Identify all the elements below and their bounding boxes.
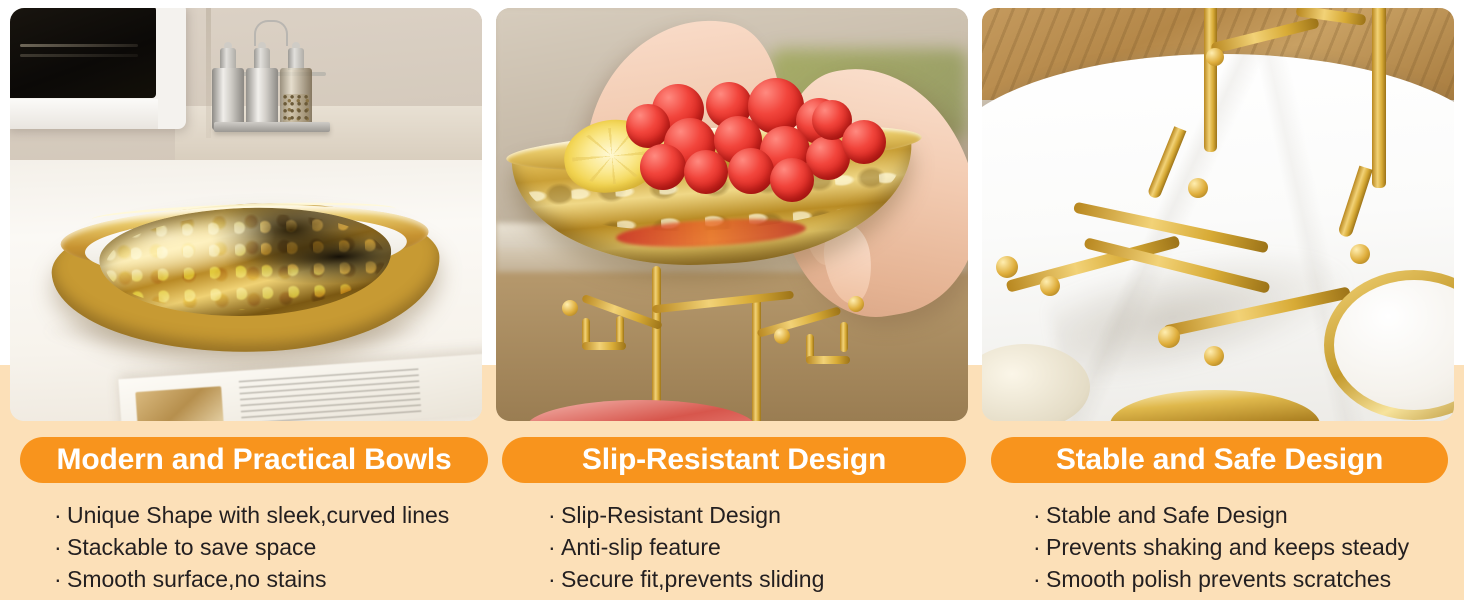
stand-hook xyxy=(806,356,850,364)
list-item-label: Stackable to save space xyxy=(67,534,316,560)
stand-ball-foot xyxy=(1158,326,1180,348)
oven-rack xyxy=(20,54,138,57)
list-item: ·Stackable to save space xyxy=(54,531,488,563)
product-photo-tomato-bowl xyxy=(496,8,968,421)
shaker-rack-tray xyxy=(214,122,330,132)
feature-panel-slip-resistant: Slip-Resistant Design ·Slip-Resistant De… xyxy=(496,8,968,600)
stand-ball-foot xyxy=(562,300,578,316)
tomato xyxy=(640,144,686,190)
stacked-gold-bowls xyxy=(52,176,440,356)
shaker-cap xyxy=(288,48,304,70)
product-photo-stand-base xyxy=(982,8,1454,421)
tomato xyxy=(728,148,774,194)
spice-shaker-set xyxy=(210,20,332,140)
shaker-cap xyxy=(220,48,236,70)
shaker-body xyxy=(280,68,312,130)
list-item: ·Stable and Safe Design xyxy=(1033,499,1448,531)
magazine-photo xyxy=(135,386,224,421)
magazine-text-lines xyxy=(239,368,422,421)
stand-foot-rail xyxy=(1163,286,1351,337)
stand-ball-foot xyxy=(1188,178,1208,198)
feature-heading-pill: Stable and Safe Design xyxy=(991,437,1448,483)
bullet-dot-icon: · xyxy=(548,531,561,563)
tomato xyxy=(684,150,728,194)
cherry-tomatoes xyxy=(556,82,886,190)
list-item: ·Prevents shaking and keeps steady xyxy=(1033,531,1448,563)
feature-bullet-list: ·Unique Shape with sleek,curved lines ·S… xyxy=(20,499,488,595)
product-feature-infographic: Modern and Practical Bowls ·Unique Shape… xyxy=(0,0,1464,600)
bullet-dot-icon: · xyxy=(1033,563,1046,595)
bullet-dot-icon: · xyxy=(54,563,67,595)
bullet-dot-icon: · xyxy=(1033,531,1046,563)
list-item-label: Stable and Safe Design xyxy=(1046,502,1288,528)
stand-post xyxy=(752,296,761,421)
list-item-label: Unique Shape with sleek,curved lines xyxy=(67,502,449,528)
stand-leg xyxy=(1372,8,1386,188)
bullet-dot-icon: · xyxy=(548,563,561,595)
stand-leg xyxy=(1204,8,1217,152)
bullet-dot-icon: · xyxy=(54,499,67,531)
list-item: ·Anti-slip feature xyxy=(548,531,966,563)
list-item-label: Smooth polish prevents scratches xyxy=(1046,566,1391,592)
list-item: ·Slip-Resistant Design xyxy=(548,499,966,531)
stand-arm xyxy=(757,306,842,337)
list-item-label: Secure fit,prevents sliding xyxy=(561,566,824,592)
feature-bullet-list: ·Stable and Safe Design ·Prevents shakin… xyxy=(991,499,1448,595)
stand-crossbar xyxy=(652,291,794,314)
list-item-label: Slip-Resistant Design xyxy=(561,502,781,528)
shaker-body xyxy=(212,68,244,130)
tomato xyxy=(770,158,814,202)
stand-ball-foot xyxy=(996,256,1018,278)
bullet-dot-icon: · xyxy=(548,499,561,531)
stand-ball-foot xyxy=(1040,276,1060,296)
caption-block: Slip-Resistant Design ·Slip-Resistant De… xyxy=(502,437,966,595)
stand-ball-foot xyxy=(1204,346,1224,366)
bullet-dot-icon: · xyxy=(1033,499,1046,531)
outer-gold-bowl xyxy=(50,197,443,358)
feature-panel-bowls: Modern and Practical Bowls ·Unique Shape… xyxy=(10,8,482,600)
oven-glass-door xyxy=(10,8,156,98)
caption-block: Modern and Practical Bowls ·Unique Shape… xyxy=(20,437,488,595)
list-item: ·Smooth polish prevents scratches xyxy=(1033,563,1448,595)
stand-leg-curve xyxy=(1147,126,1187,199)
list-item: ·Secure fit,prevents sliding xyxy=(548,563,966,595)
feature-heading-pill: Modern and Practical Bowls xyxy=(20,437,488,483)
stand-leg-curve xyxy=(1337,166,1373,239)
list-item-label: Prevents shaking and keeps steady xyxy=(1046,534,1409,560)
oven-appliance xyxy=(10,8,186,129)
product-photo-bowls xyxy=(10,8,482,421)
feature-heading-pill: Slip-Resistant Design xyxy=(502,437,966,483)
tomato xyxy=(842,120,886,164)
stand-ball-foot xyxy=(1350,244,1370,264)
bullet-dot-icon: · xyxy=(54,531,67,563)
list-item: ·Smooth surface,no stains xyxy=(54,563,488,595)
panel-row: Modern and Practical Bowls ·Unique Shape… xyxy=(0,0,1464,600)
shaker-cap xyxy=(254,48,270,70)
gold-stand xyxy=(556,258,896,418)
stand-ball-foot xyxy=(848,296,864,312)
stand-post xyxy=(652,266,661,421)
stand-hook xyxy=(582,342,626,350)
list-item-label: Anti-slip feature xyxy=(561,534,721,560)
list-item-label: Smooth surface,no stains xyxy=(67,566,327,592)
shaker-body xyxy=(246,68,278,130)
feature-panel-stable-safe: Stable and Safe Design ·Stable and Safe … xyxy=(982,8,1454,600)
stand-ball-foot xyxy=(774,328,790,344)
oven-rack xyxy=(20,44,138,47)
feature-bullet-list: ·Slip-Resistant Design ·Anti-slip featur… xyxy=(502,499,966,595)
caption-block: Stable and Safe Design ·Stable and Safe … xyxy=(991,437,1448,595)
oven-base xyxy=(10,99,158,129)
stand-hook xyxy=(840,322,848,352)
list-item: ·Unique Shape with sleek,curved lines xyxy=(54,499,488,531)
stand-ball-joint xyxy=(1206,48,1224,66)
stand-upper-bracket xyxy=(1210,17,1319,54)
